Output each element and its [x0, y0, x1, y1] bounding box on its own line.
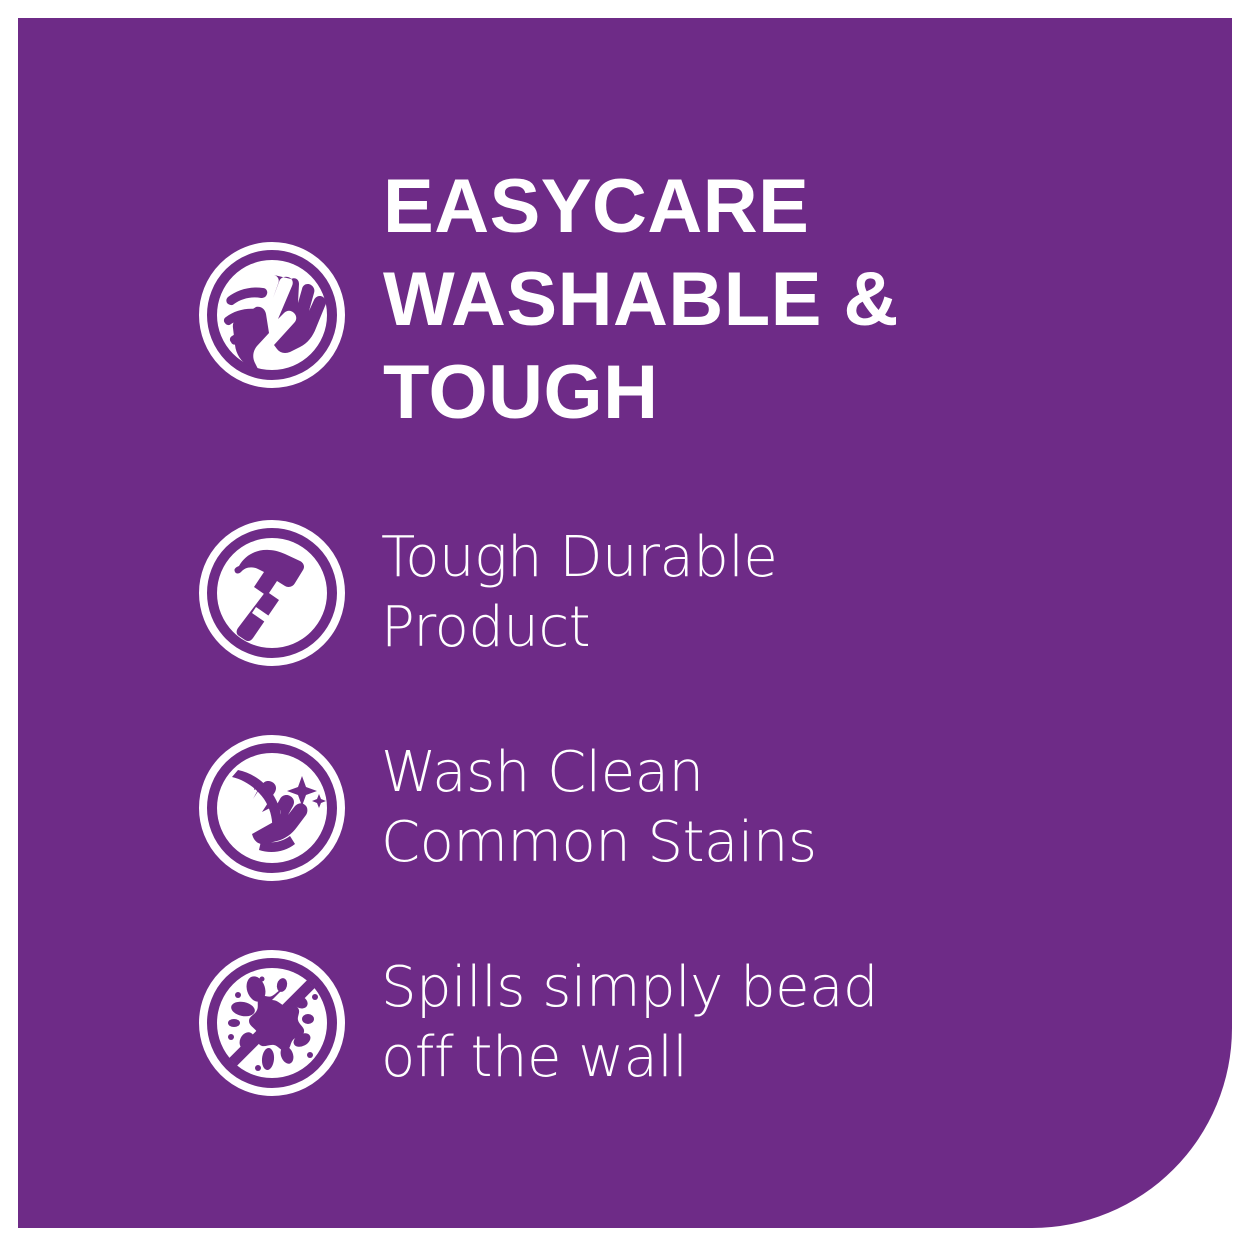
no-splatter-icon [198, 949, 346, 1097]
feature-label: Spills simply bead off the wall [381, 953, 878, 1093]
washing-hands-icon [198, 241, 346, 389]
feature-label: Wash Clean Common Stains [381, 738, 817, 878]
feature-row [198, 240, 1198, 390]
feature-panel: EASYCARE WASHABLE & TOUGH [18, 18, 1232, 1228]
feature-row: Spills simply bead off the wall [198, 948, 1198, 1098]
feature-label: Tough Durable Product [381, 523, 777, 663]
hammer-icon [198, 519, 346, 667]
feature-row: Tough Durable Product [198, 518, 1198, 668]
wipe-clean-sparkle-icon [198, 734, 346, 882]
feature-row: Wash Clean Common Stains [198, 733, 1198, 883]
